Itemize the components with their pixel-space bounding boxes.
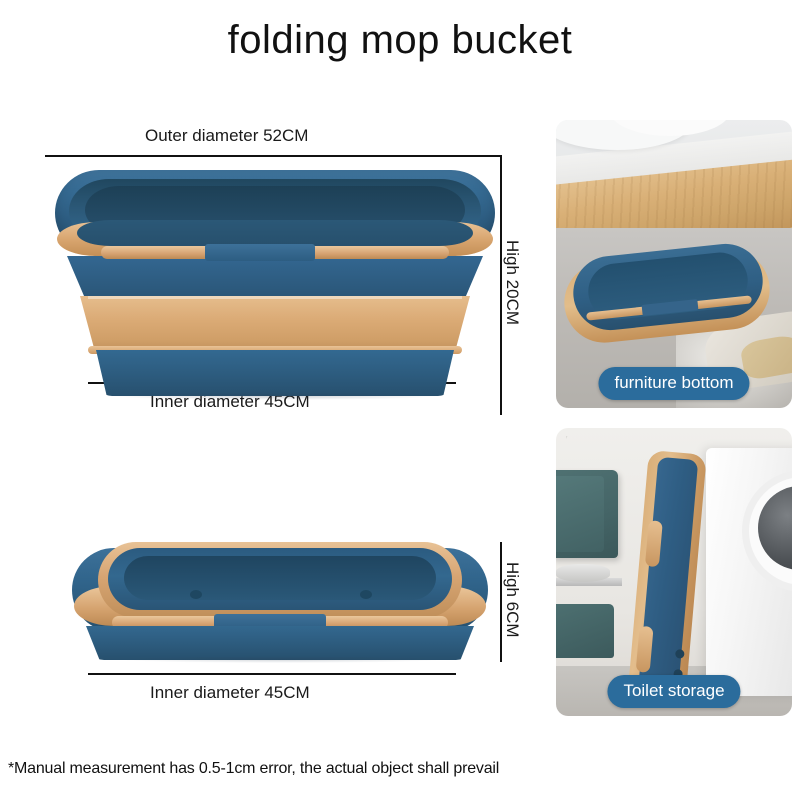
- page-title: folding mop bucket: [0, 18, 800, 63]
- band-crease-top: [88, 296, 462, 299]
- outer-diameter-label: Outer diameter 52CM: [145, 126, 308, 146]
- scene2-basin: [556, 564, 610, 582]
- inner-diameter-line-folded: [88, 673, 456, 675]
- scene2-lower-cabinet: [556, 604, 614, 658]
- bucket-upper-body: [67, 256, 483, 300]
- height-20-label: High 20CM: [502, 240, 522, 325]
- measurement-disclaimer: *Manual measurement has 0.5-1cm error, t…: [8, 760, 499, 778]
- scene2-cabinet-door: [556, 476, 604, 552]
- folded-base: [86, 626, 474, 660]
- photo-furniture-bottom[interactable]: furniture bottom: [556, 120, 792, 408]
- height-6-label: High 6CM: [502, 562, 522, 638]
- inner-diameter-label-folded: Inner diameter 45CM: [150, 683, 310, 703]
- product-diagram-column: Outer diameter 52CM High 20CM Inner diam…: [0, 110, 545, 730]
- bucket-base: [96, 350, 454, 396]
- badge-toilet-storage: Toilet storage: [607, 675, 740, 708]
- folded-nub-right: [360, 590, 372, 599]
- scene-folded-bucket: [564, 244, 770, 338]
- badge-furniture-bottom: furniture bottom: [598, 367, 749, 400]
- bucket-shadow: [110, 392, 440, 400]
- bucket-expanded-image: [55, 170, 495, 380]
- bucket-folded-image: [72, 542, 488, 662]
- folded-shadow: [122, 656, 442, 663]
- bucket-handle-center: [205, 244, 315, 261]
- folded-well: [124, 556, 436, 600]
- bucket-tan-ring-inner: [77, 220, 473, 246]
- folded-nub-left: [190, 590, 202, 599]
- outer-diameter-line: [45, 155, 500, 157]
- photo-toilet-storage[interactable]: Toilet storage: [556, 428, 792, 716]
